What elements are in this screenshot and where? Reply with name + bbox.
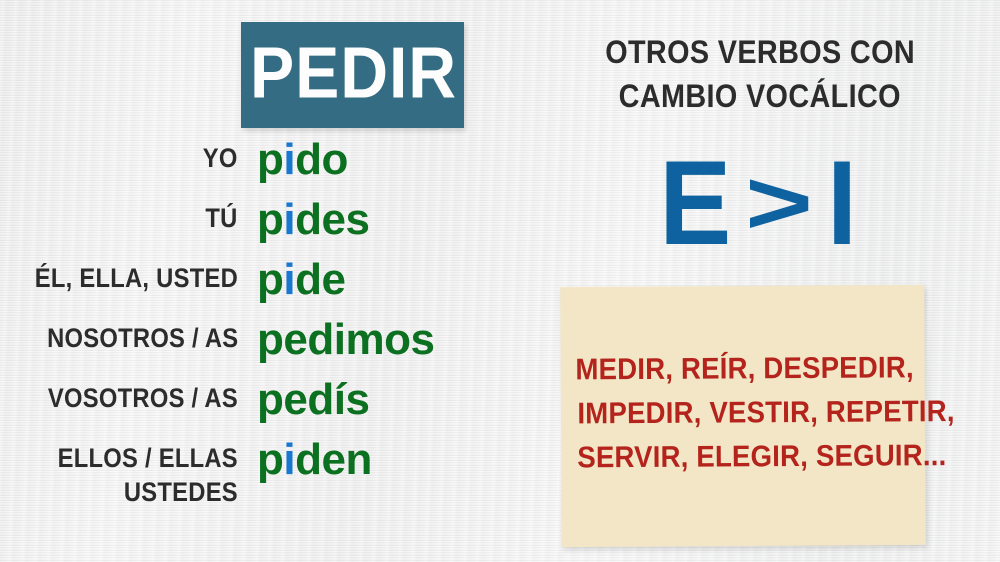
verb-title-label: PEDIR (250, 38, 457, 110)
table-row: YO pido (0, 141, 520, 201)
conjugation-table: YO pido TÚ pides ÉL, ELLA, USTED pide NO… (0, 141, 520, 501)
verb-stem-change: i (283, 135, 295, 184)
vowel-from: E (659, 133, 736, 273)
verb-stem: p (257, 135, 283, 184)
slide-canvas: PEDIR YO pido TÚ pides ÉL, ELLA, USTED p… (0, 0, 1000, 562)
table-row: NOSOTROS / AS pedimos (0, 321, 520, 381)
verb-form: piden (257, 433, 372, 487)
pronoun-label: TÚ (0, 201, 238, 235)
verb-stem: pedimos (257, 315, 434, 364)
pronoun-label: VOSOTROS / AS (0, 381, 238, 415)
pronoun-label: ELLOS / ELLAS USTEDES (0, 441, 238, 509)
verb-stem: p (257, 255, 283, 304)
right-heading-line-1: OTROS VERBOS CON (560, 30, 960, 74)
vowel-to: I (827, 133, 862, 273)
table-row: ÉL, ELLA, USTED pide (0, 261, 520, 321)
other-verbs-line-1: MEDIR, REÍR, DESPEDIR, (561, 346, 925, 392)
verb-ending: do (295, 135, 348, 184)
verb-form: pide (257, 253, 345, 307)
verb-stem-change: i (283, 435, 295, 484)
pronoun-label: NOSOTROS / AS (0, 321, 238, 355)
other-verbs-note: MEDIR, REÍR, DESPEDIR, IMPEDIR, VESTIR, … (560, 285, 926, 547)
verb-form: pedimos (257, 313, 434, 367)
verb-form: pides (257, 193, 369, 247)
table-row: VOSOTROS / AS pedís (0, 381, 520, 441)
table-row: TÚ pides (0, 201, 520, 261)
verb-stem-change: i (283, 195, 295, 244)
vowel-change-rule: E>I (560, 133, 960, 273)
other-verbs-line-2: IMPEDIR, VESTIR, REPETIR, (561, 390, 925, 436)
right-heading-line-2: CAMBIO VOCÁLICO (560, 74, 960, 118)
verb-form: pido (257, 133, 348, 187)
right-panel-heading: OTROS VERBOS CON CAMBIO VOCÁLICO (560, 30, 960, 118)
verb-stem: p (257, 435, 283, 484)
table-row: ELLOS / ELLAS USTEDES piden (0, 441, 520, 501)
verb-form: pedís (257, 373, 369, 427)
verb-title-box: PEDIR (241, 22, 464, 128)
verb-stem: pedís (257, 375, 369, 424)
verb-ending: de (295, 255, 345, 304)
verb-ending: des (295, 195, 369, 244)
other-verbs-line-3: SERVIR, ELEGIR, SEGUIR... (561, 434, 925, 480)
pronoun-label: YO (0, 141, 238, 175)
page-title: PEDIR (241, 38, 464, 110)
pronoun-label: ÉL, ELLA, USTED (0, 261, 238, 295)
verb-stem: p (257, 195, 283, 244)
verb-stem-change: i (283, 255, 295, 304)
greater-than-icon: > (745, 130, 821, 277)
other-verbs-list: MEDIR, REÍR, DESPEDIR, IMPEDIR, VESTIR, … (561, 346, 926, 480)
verb-ending: den (295, 435, 372, 484)
